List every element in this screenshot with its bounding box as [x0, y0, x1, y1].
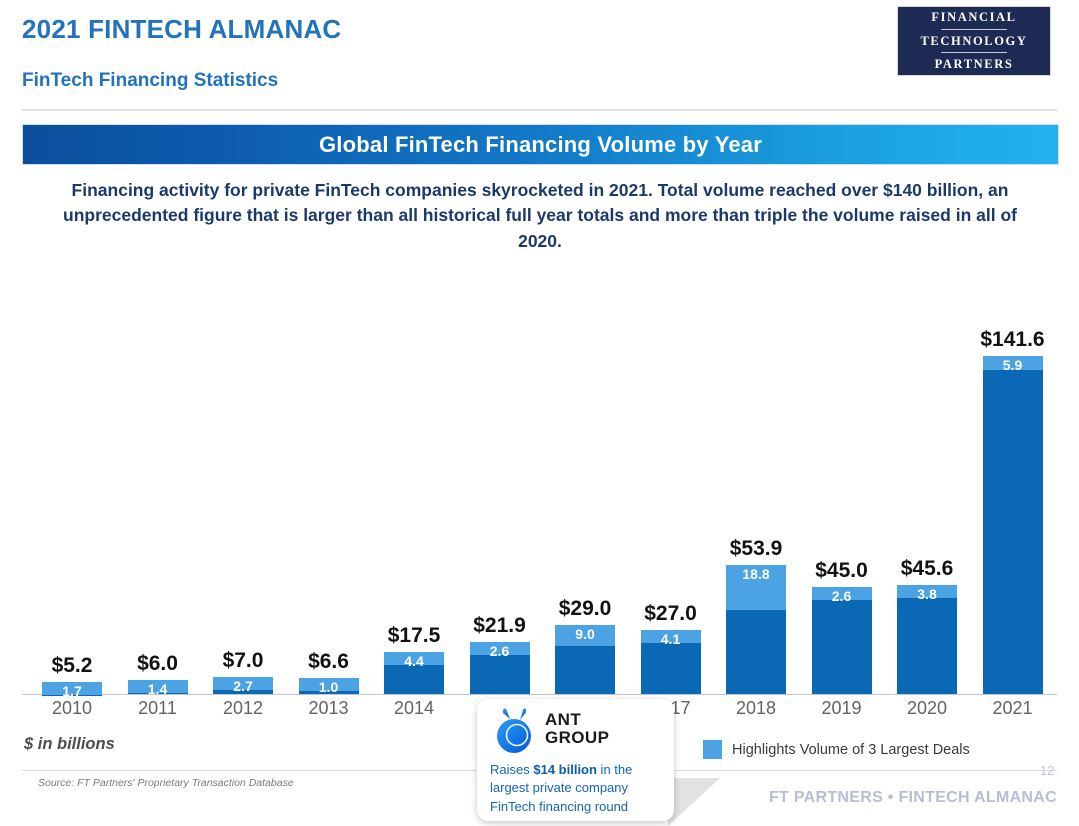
bar-segment-value-label: 4.1 — [661, 631, 680, 647]
bar-segment-largest-deals: 2.6 — [812, 587, 872, 600]
bar-stack: 18.8 — [726, 565, 786, 694]
bar-stack: 9.0 — [555, 625, 615, 694]
bar-total-label: $45.0 — [800, 559, 884, 583]
bar-stack: 1.0 — [299, 678, 359, 694]
ant-group-name-line2: GROUP — [545, 729, 609, 747]
bar-segment-value-label: 1.7 — [62, 683, 81, 699]
bar-segment-largest-deals: 4.4 — [384, 652, 444, 665]
bar-segment-value-label: 18.8 — [742, 566, 769, 582]
x-axis-label-2014: 2014 — [372, 698, 456, 719]
bar-stack: 4.1 — [641, 630, 701, 694]
bar-segment-value-label: 4.4 — [404, 653, 423, 669]
bar-segment-value-label: 3.8 — [917, 586, 936, 602]
bar-total-label: $7.0 — [201, 649, 285, 673]
chart-baseline-axis — [22, 694, 1057, 695]
bar-segment-largest-deals: 5.9 — [983, 356, 1043, 370]
bar-segment-value-label: 2.6 — [832, 588, 851, 604]
bar-group: $17.54.4 — [372, 618, 456, 694]
x-axis-label-2021: 2021 — [971, 698, 1055, 719]
bar-segment-largest-deals: 2.7 — [213, 677, 273, 690]
bar-group: $141.65.9 — [971, 322, 1055, 694]
bar-segment-remaining — [726, 610, 786, 694]
bar-group: $5.21.7 — [30, 648, 114, 694]
bar-segment-remaining — [983, 370, 1043, 694]
legend-label-largest-deals: Highlights Volume of 3 Largest Deals — [732, 742, 970, 758]
x-axis-label-2011: 2011 — [116, 698, 200, 719]
bar-segment-remaining — [384, 665, 444, 694]
bar-segment-value-label: 1.4 — [148, 681, 167, 697]
bar-group: $29.09.0 — [543, 591, 627, 694]
logo-line-financial: FINANCIAL — [931, 9, 1016, 26]
banner-title: Global FinTech Financing Volume by Year — [319, 132, 762, 158]
bar-group: $45.02.6 — [800, 553, 884, 694]
legend-swatch-largest-deals — [703, 740, 722, 759]
bar-group: $6.01.4 — [116, 646, 200, 694]
bar-total-label: $45.6 — [885, 557, 969, 581]
intro-paragraph: Financing activity for private FinTech c… — [40, 178, 1040, 254]
page-title: 2021 FINTECH ALMANAC — [22, 14, 341, 45]
bar-segment-value-label: 2.6 — [490, 643, 509, 659]
bar-segment-value-label: 5.9 — [1003, 357, 1022, 373]
bar-total-label: $6.0 — [116, 652, 200, 676]
bar-total-label: $5.2 — [30, 654, 114, 678]
bar-total-label: $29.0 — [543, 597, 627, 621]
ant-group-callout: ANT GROUP Raises $14 billion in the larg… — [477, 699, 674, 821]
bar-stack: 2.6 — [812, 587, 872, 694]
bar-total-label: $6.6 — [287, 650, 371, 674]
bar-total-label: $21.9 — [458, 614, 542, 638]
bar-segment-value-label: 2.7 — [233, 678, 252, 694]
bar-group: $7.02.7 — [201, 643, 285, 694]
bar-total-label: $27.0 — [629, 602, 713, 626]
bar-total-label: $53.9 — [714, 537, 798, 561]
bar-segment-remaining — [641, 643, 701, 694]
bar-segment-largest-deals: 3.8 — [897, 585, 957, 598]
bar-total-label: $17.5 — [372, 624, 456, 648]
bar-segment-largest-deals: 2.6 — [470, 642, 530, 655]
x-axis-label-2019: 2019 — [800, 698, 884, 719]
bar-segment-remaining — [812, 600, 872, 694]
logo-line-technology: TECHNOLOGY — [921, 33, 1028, 50]
x-axis-label-2018: 2018 — [714, 698, 798, 719]
header-divider — [22, 109, 1057, 111]
chart-legend: Highlights Volume of 3 Largest Deals — [703, 740, 970, 759]
bar-segment-value-label: 9.0 — [575, 626, 594, 642]
bar-segment-remaining — [470, 655, 530, 694]
page-number: 12 — [1040, 763, 1054, 778]
bar-total-label: $141.6 — [971, 328, 1055, 352]
bar-segment-largest-deals: 18.8 — [726, 565, 786, 610]
bar-stack: 2.7 — [213, 677, 273, 694]
bar-group: $27.04.1 — [629, 596, 713, 694]
x-axis-label-2013: 2013 — [287, 698, 371, 719]
x-axis-label-2012: 2012 — [201, 698, 285, 719]
bar-stack: 2.6 — [470, 642, 530, 694]
bar-segment-remaining — [555, 646, 615, 694]
callout-pointer — [668, 778, 720, 826]
bar-segment-largest-deals: 1.0 — [299, 678, 359, 691]
ant-group-name: ANT GROUP — [545, 711, 609, 747]
logo-line-partners: PARTNERS — [935, 56, 1014, 73]
bar-stack: 1.4 — [128, 680, 188, 694]
section-banner: Global FinTech Financing Volume by Year — [22, 124, 1059, 165]
bar-group: $45.63.8 — [885, 551, 969, 694]
bar-stack: 5.9 — [983, 356, 1043, 694]
financing-volume-bar-chart: $5.21.7$6.01.4$7.02.7$6.61.0$17.54.4$21.… — [0, 270, 1079, 710]
page-subtitle: FinTech Financing Statistics — [22, 70, 278, 92]
logo-divider-2 — [941, 52, 1007, 53]
x-axis-label-2010: 2010 — [30, 698, 114, 719]
source-note: Source: FT Partners' Proprietary Transac… — [38, 777, 294, 789]
bar-segment-largest-deals: 1.4 — [128, 680, 188, 693]
bar-group: $21.92.6 — [458, 608, 542, 694]
callout-text-prefix: Raises — [490, 762, 533, 777]
bar-stack: 3.8 — [897, 585, 957, 694]
bar-segment-remaining — [897, 598, 957, 694]
bar-stack: 1.7 — [42, 682, 102, 694]
bar-segment-value-label: 1.0 — [319, 679, 338, 695]
bar-segment-largest-deals: 9.0 — [555, 625, 615, 646]
ant-group-callout-text: Raises $14 billion in the largest privat… — [490, 761, 666, 816]
bar-segment-largest-deals: 1.7 — [42, 682, 102, 695]
units-label: $ in billions — [24, 735, 115, 754]
callout-text-amount: $14 billion — [533, 762, 597, 777]
ant-group-name-line1: ANT — [545, 711, 609, 729]
ant-group-logo-icon — [489, 707, 541, 755]
logo-divider-1 — [941, 29, 1007, 30]
bar-segment-largest-deals: 4.1 — [641, 630, 701, 643]
ft-partners-logo: FINANCIAL TECHNOLOGY PARTNERS — [897, 6, 1051, 76]
x-axis-label-2020: 2020 — [885, 698, 969, 719]
bar-group: $6.61.0 — [287, 644, 371, 694]
bar-group: $53.918.8 — [714, 531, 798, 694]
bar-stack: 4.4 — [384, 652, 444, 694]
